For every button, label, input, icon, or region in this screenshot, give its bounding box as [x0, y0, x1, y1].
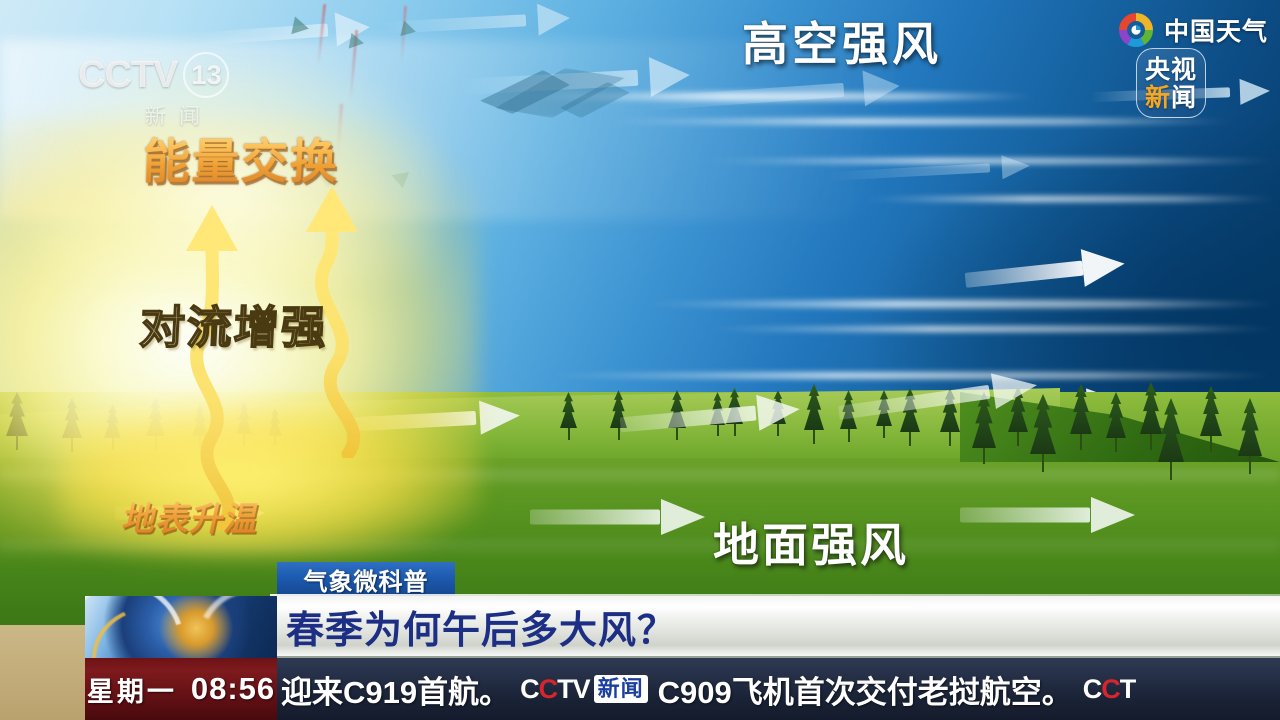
tree	[1158, 398, 1184, 480]
sky-streak	[700, 326, 1280, 332]
sky-streak	[540, 372, 1280, 379]
ticker-segment-1: 迎来C919首航。	[281, 667, 510, 712]
tree	[1030, 394, 1056, 472]
china-weather-label: 中国天气	[1164, 12, 1268, 48]
ticker-news-text: 新闻	[594, 675, 648, 703]
broadcast-screen: 高空强风 地面强风 能量交换 对流增强 地表升温 CCTV 13 新闻 中国天气…	[0, 0, 1280, 720]
tree	[1238, 398, 1262, 474]
tree	[1106, 392, 1126, 452]
cctv-news-badge-line2-orange: 新	[1145, 84, 1171, 112]
cctv-news-badge-line2: 新闻	[1145, 85, 1197, 112]
channel-bug-number: 13	[183, 52, 229, 98]
cctv-news-badge-line2-white: 闻	[1171, 84, 1197, 112]
topic-badge-label: 气象微科普	[304, 562, 429, 597]
sky-streak	[860, 196, 1280, 202]
channel-bug-name: CCTV	[78, 54, 177, 97]
weather-spiral-icon	[1116, 10, 1156, 50]
cctv-news-badge: 央视 新闻	[1136, 48, 1206, 118]
clock-bar: 星期一 08:56	[85, 658, 277, 720]
channel-bug-cctv13: CCTV 13 新闻	[78, 52, 268, 134]
wind-arrow-ground	[960, 498, 1135, 532]
ticker-cctv-text: CCTV	[520, 674, 590, 705]
sky-streak	[600, 118, 1240, 125]
ticker-cctv-news-logo: CCTV 新闻	[520, 674, 648, 705]
label-convection-enhanced: 对流增强	[138, 291, 329, 356]
headline-bar: 春季为何午后多大风？	[270, 596, 1280, 658]
channel-bug-subtitle: 新闻	[78, 100, 268, 130]
news-ticker: 迎来C919首航。 CCTV 新闻 C909飞机首次交付老挝航空。 CCT	[277, 658, 1280, 720]
label-surface-warming: 地表升温	[119, 492, 265, 540]
tree	[560, 392, 577, 440]
topic-badge: 气象微科普	[277, 562, 455, 596]
clock-weekday: 星期一	[87, 670, 177, 709]
channel-bug-row: CCTV 13	[78, 52, 268, 98]
tree	[804, 384, 824, 444]
cctv-news-badge-line1: 央视	[1145, 57, 1197, 84]
wind-arrowhead-small	[349, 33, 366, 51]
headline-text: 春季为何午后多大风？	[270, 599, 676, 654]
ticker-segment-2: C909飞机首次交付老挝航空。	[658, 667, 1073, 712]
sky-streak	[640, 300, 1280, 308]
globe-graphic	[85, 596, 277, 658]
wind-arrow-ground	[530, 500, 705, 534]
clock-time: 08:56	[191, 671, 275, 707]
ticker-tail-logo: CCT	[1083, 674, 1136, 705]
china-weather-logo: 中国天气	[1116, 10, 1268, 50]
label-high-altitude-wind: 高空强风	[742, 8, 942, 74]
label-ground-wind: 地面强风	[713, 509, 909, 575]
tree	[1200, 386, 1222, 452]
tree	[1070, 384, 1092, 450]
